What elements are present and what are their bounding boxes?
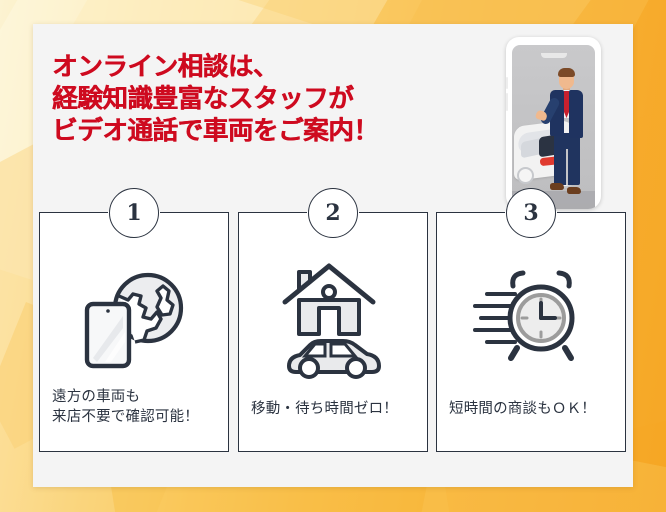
phone-side-button — [506, 93, 508, 111]
person-shoe — [567, 187, 581, 194]
house-glyph — [285, 266, 373, 334]
phone-mockup-illustration — [506, 37, 601, 209]
headline-line-2: 経験知識豊富なスタッフが — [52, 83, 492, 115]
alarm-clock-speed-icon — [437, 253, 625, 383]
car-glyph — [289, 341, 379, 377]
smartphone-globe-icon — [40, 253, 228, 383]
card-number-badge-2: 2 — [308, 188, 358, 238]
phone-notch — [541, 53, 567, 58]
phone-screen — [512, 45, 595, 209]
headline-line-3: ビデオ通話で車両をご案内！ — [52, 115, 492, 147]
card-number-badge-3: 3 — [506, 188, 556, 238]
card-number-badge-1: 1 — [109, 188, 159, 238]
promo-banner: オンライン相談は、 経験知識豊富なスタッフが ビデオ通話で車両をご案内！ — [0, 0, 666, 512]
card-caption-3: 短時間の商談もＯＫ！ — [449, 399, 617, 419]
headline: オンライン相談は、 経験知識豊富なスタッフが ビデオ通話で車両をご案内！ — [52, 51, 492, 147]
car-wheel — [517, 167, 534, 184]
house-car-icon — [239, 253, 427, 383]
person-shoe — [550, 183, 564, 190]
benefit-card-2: 2 — [238, 212, 428, 452]
person-hair — [558, 68, 575, 77]
benefit-card-3: 3 — [436, 212, 626, 452]
card-caption-1: 遠方の車両も 来店不要で確認可能！ — [52, 387, 220, 427]
benefit-card-1: 1 遠方の車両も 来店不要で確認可能！ — [39, 212, 229, 452]
card-caption-2: 移動・待ち時間ゼロ！ — [251, 399, 419, 419]
content-panel: オンライン相談は、 経験知識豊富なスタッフが ビデオ通話で車両をご案内！ — [33, 24, 633, 487]
phone-side-button — [506, 77, 508, 89]
person-leg-split — [566, 149, 568, 185]
headline-line-1: オンライン相談は、 — [52, 51, 492, 83]
person-jacket-right — [569, 90, 583, 138]
